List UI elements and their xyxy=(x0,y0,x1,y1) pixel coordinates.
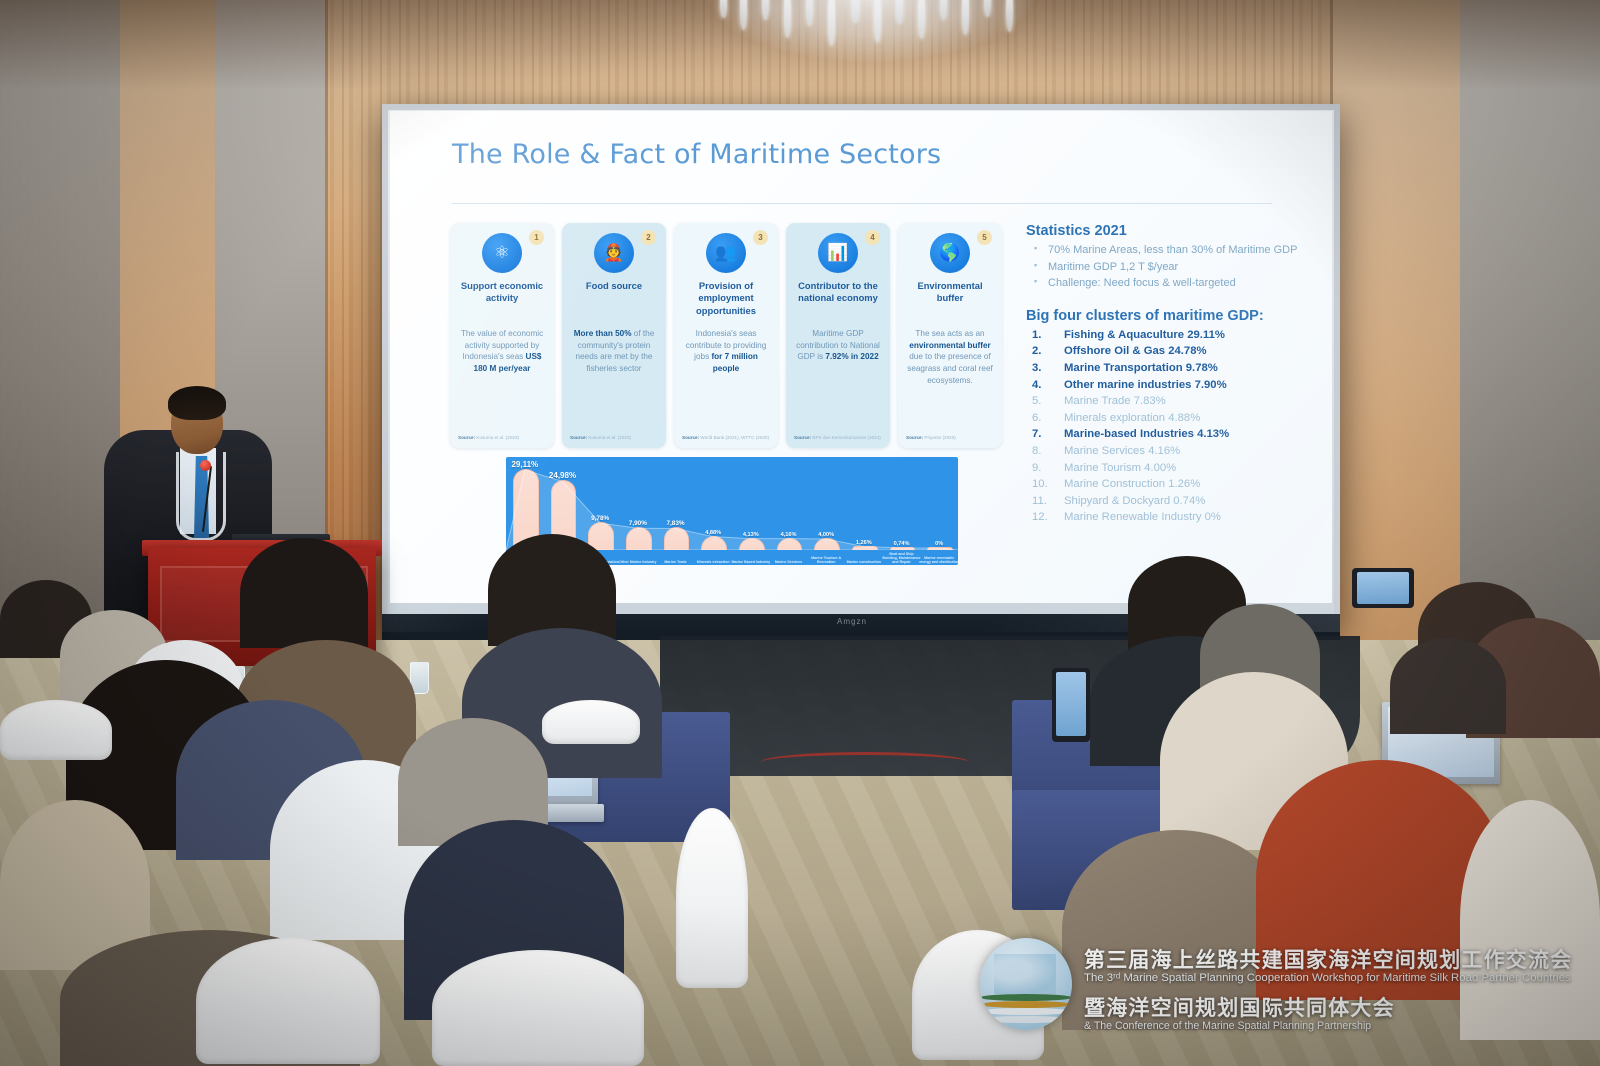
floor-cables xyxy=(760,752,970,773)
smartphone-screen xyxy=(1056,672,1086,736)
cluster-item: 10.Marine Construction 1.26% xyxy=(1026,476,1306,493)
cluster-number: 4. xyxy=(1032,377,1058,394)
cluster-item: 7.Marine-based Industries 4.13% xyxy=(1026,426,1306,443)
logo-wave-gold xyxy=(980,1001,1072,1008)
audience-chair xyxy=(676,808,748,988)
source-text: Kusuma et al. (2023) xyxy=(475,435,519,440)
cluster-number: 5. xyxy=(1032,393,1058,410)
wall-panel-right-wood xyxy=(1330,0,1460,650)
cluster-number: 2. xyxy=(1032,343,1058,360)
cluster-label: Marine-based Industries 4.13% xyxy=(1064,428,1229,440)
card-body-bold: 7.92% in 2022 xyxy=(825,352,878,361)
source-label: Source: xyxy=(682,435,699,440)
role-card[interactable]: 🌎 5 Environmental buffer The sea acts as… xyxy=(898,223,1002,448)
cluster-item: 8.Marine Services 4.16% xyxy=(1026,443,1306,460)
source-text: Priyanto (2020) xyxy=(923,435,956,440)
event-title-english: The 3ʳᵈ Marine Spatial Planning Cooperat… xyxy=(1084,972,1571,984)
card-heading: Support economic activity xyxy=(456,280,548,305)
audience-chair xyxy=(196,938,380,1064)
card-body: The sea acts as an environmental buffer … xyxy=(905,328,995,386)
source-text: Kusuma et al. (2023) xyxy=(587,435,631,440)
role-card[interactable]: 📊 4 Contributor to the national economy … xyxy=(786,223,890,448)
card-body-bold: environmental buffer xyxy=(909,341,990,350)
cluster-number: 9. xyxy=(1032,460,1058,477)
chart-category-label: Marine Tourism & Recreation xyxy=(806,556,846,564)
card-body-plain: The sea acts as an xyxy=(915,329,984,338)
globe-cycle-icon: ⚛ xyxy=(482,233,522,273)
card-source: Source: Kusuma et al. (2023) xyxy=(458,435,548,441)
cluster-number: 1. xyxy=(1032,327,1058,344)
cluster-item: 5.Marine Trade 7.83% xyxy=(1026,393,1306,410)
cluster-number: 6. xyxy=(1032,410,1058,427)
event-subtitle-chinese: 暨海洋空间规划国际共同体大会 xyxy=(1084,992,1395,1022)
cluster-item: 6.Minerals exploration 4.88% xyxy=(1026,410,1306,427)
chart-category-label: Minerals extraction xyxy=(693,560,733,564)
event-branding: 第三届海上丝路共建国家海洋空间规划工作交流会 The 3ʳᵈ Marine Sp… xyxy=(980,930,1580,1040)
wall-panel-right-grey xyxy=(1460,0,1600,655)
chart-category-label: Marine Based Industry xyxy=(731,560,771,564)
clusters-list: 1.Fishing & Aquaculture 29.11% 2.Offshor… xyxy=(1026,327,1306,526)
chart-category-label: Marine Trade xyxy=(656,560,696,564)
card-source: Source: Kusuma et al. (2023) xyxy=(570,435,660,441)
cluster-item: 2.Offshore Oil & Gas 24.78% xyxy=(1026,343,1306,360)
cluster-item: 12.Marine Renewable Industry 0% xyxy=(1026,509,1306,526)
chart-money-icon: 📊 xyxy=(818,233,858,273)
role-card[interactable]: 👲 2 Food source More than 50% of the com… xyxy=(562,223,666,448)
cluster-item: 11.Shipyard & Dockyard 0.74% xyxy=(1026,493,1306,510)
chart-category-label: Marine Services xyxy=(769,560,809,564)
cluster-label: Offshore Oil & Gas 24.78% xyxy=(1064,345,1207,357)
statistics-bullet-list: 70% Marine Areas, less than 30% of Marit… xyxy=(1026,243,1306,292)
marine-spatial-planning-logo xyxy=(980,938,1072,1030)
chart-category-label: Marine construction xyxy=(844,560,884,564)
cluster-label: Shipyard & Dockyard 0.74% xyxy=(1064,495,1205,507)
card-body-bold: for 7 million people xyxy=(711,352,757,373)
cluster-number: 8. xyxy=(1032,443,1058,460)
card-heading: Food source xyxy=(568,280,660,292)
audience-head xyxy=(1390,638,1506,734)
card-body: Indonesia's seas contribute to providing… xyxy=(681,328,771,375)
cluster-label: Marine Transportation 9.78% xyxy=(1064,362,1218,374)
cluster-number: 10. xyxy=(1032,476,1058,493)
fisherman-icon: 👲 xyxy=(594,233,634,273)
event-subtitle-english: & The Conference of the Marine Spatial P… xyxy=(1084,1020,1371,1032)
maritime-role-cards: ⚛ 1 Support economic activity The value … xyxy=(450,223,1010,448)
cluster-label: Marine Trade 7.83% xyxy=(1064,395,1166,407)
card-heading: Contributor to the national economy xyxy=(792,280,884,305)
source-label: Source: xyxy=(906,435,923,440)
statistics-bullet: Challenge: Need focus & well-targeted xyxy=(1026,276,1306,292)
statistics-panel: Statistics 2021 70% Marine Areas, less t… xyxy=(1026,223,1306,526)
cluster-item: 3.Marine Transportation 9.78% xyxy=(1026,360,1306,377)
cluster-number: 7. xyxy=(1032,426,1058,443)
chart-category-label: Boat and Ship Building, Maintenance and … xyxy=(882,552,922,564)
card-source: Source: World Bank (2021), WTTC (2020) xyxy=(682,435,772,441)
cluster-label: Minerals exploration 4.88% xyxy=(1064,412,1200,424)
card-number: 1 xyxy=(529,230,544,245)
earth-leaf-icon: 🌎 xyxy=(930,233,970,273)
source-label: Source: xyxy=(570,435,587,440)
card-number: 5 xyxy=(977,230,992,245)
audience-chair xyxy=(542,700,640,744)
logo-wave-white xyxy=(980,1008,1072,1015)
card-number: 4 xyxy=(865,230,880,245)
presenter-hair xyxy=(168,386,226,420)
cluster-number: 11. xyxy=(1032,493,1058,510)
event-title-chinese: 第三届海上丝路共建国家海洋空间规划工作交流会 xyxy=(1084,944,1572,974)
source-text: BPS dan Kemenkomarves (2024) xyxy=(811,435,881,440)
cluster-label: Marine Tourism 4.00% xyxy=(1064,462,1176,474)
cluster-label: Fishing & Aquaculture 29.11% xyxy=(1064,329,1225,341)
cluster-label: Other marine industries 7.90% xyxy=(1064,379,1227,391)
source-text: World Bank (2021), WTTC (2020) xyxy=(699,435,769,440)
cluster-number: 12. xyxy=(1032,509,1058,526)
slide-title: The Role & Fact of Maritime Sectors xyxy=(452,139,941,170)
statistics-bullet: 70% Marine Areas, less than 30% of Marit… xyxy=(1026,243,1306,259)
role-card[interactable]: 👥 3 Provision of employment opportunitie… xyxy=(674,223,778,448)
chart-trend-area xyxy=(506,457,958,550)
presentation-slide: The Role & Fact of Maritime Sectors ⚛ 1 … xyxy=(390,111,1332,603)
card-heading: Provision of employment opportunities xyxy=(680,280,772,317)
card-number: 2 xyxy=(641,230,656,245)
statistics-bullet: Maritime GDP 1,2 T $/year xyxy=(1026,260,1306,276)
statistics-heading: Statistics 2021 xyxy=(1026,223,1306,239)
card-body-bold: More than 50% xyxy=(574,329,632,338)
title-divider xyxy=(452,203,1272,204)
source-label: Source: xyxy=(458,435,475,440)
cluster-label: Marine Construction 1.26% xyxy=(1064,478,1200,490)
logo-globe xyxy=(994,954,1056,994)
logo-wave-green xyxy=(980,994,1072,1001)
card-body: More than 50% of the community's protein… xyxy=(569,328,659,375)
card-body: The value of economic activity supported… xyxy=(457,328,547,375)
cluster-number: 3. xyxy=(1032,360,1058,377)
card-heading: Environmental buffer xyxy=(904,280,996,305)
microphone-head xyxy=(200,460,211,471)
chart-category-label: Other Marine Industry xyxy=(618,560,658,564)
cluster-label: Marine Services 4.16% xyxy=(1064,445,1180,457)
workers-icon: 👥 xyxy=(706,233,746,273)
source-label: Source: xyxy=(794,435,811,440)
card-source: Source: BPS dan Kemenkomarves (2024) xyxy=(794,435,884,441)
cluster-item: 1.Fishing & Aquaculture 29.11% xyxy=(1026,327,1306,344)
audience-chair xyxy=(432,950,644,1066)
card-body-plain-2: due to the presence of seagrass and cora… xyxy=(907,352,993,384)
conference-photo-scene: The Role & Fact of Maritime Sectors ⚛ 1 … xyxy=(0,0,1600,1066)
audience-head xyxy=(240,538,368,648)
card-body: Maritime GDP contribution to National GD… xyxy=(793,328,883,363)
clusters-heading: Big four clusters of maritime GDP: xyxy=(1026,308,1306,324)
card-source: Source: Priyanto (2020) xyxy=(906,435,996,441)
role-card[interactable]: ⚛ 1 Support economic activity The value … xyxy=(450,223,554,448)
chart-category-label: Marine renewable energy and distribution xyxy=(919,556,958,564)
card-number: 3 xyxy=(753,230,768,245)
cluster-item: 9.Marine Tourism 4.00% xyxy=(1026,460,1306,477)
chandelier xyxy=(706,0,1036,62)
smartphone-screen xyxy=(1357,572,1409,604)
wall-panel-left-grey xyxy=(0,0,120,640)
audience-chair xyxy=(0,700,112,760)
cluster-label: Marine Renewable Industry 0% xyxy=(1064,511,1221,523)
logo-wave-white xyxy=(980,1016,1072,1023)
display-brand-label: Amgzn xyxy=(837,617,867,626)
cluster-item: 4.Other marine industries 7.90% xyxy=(1026,377,1306,394)
